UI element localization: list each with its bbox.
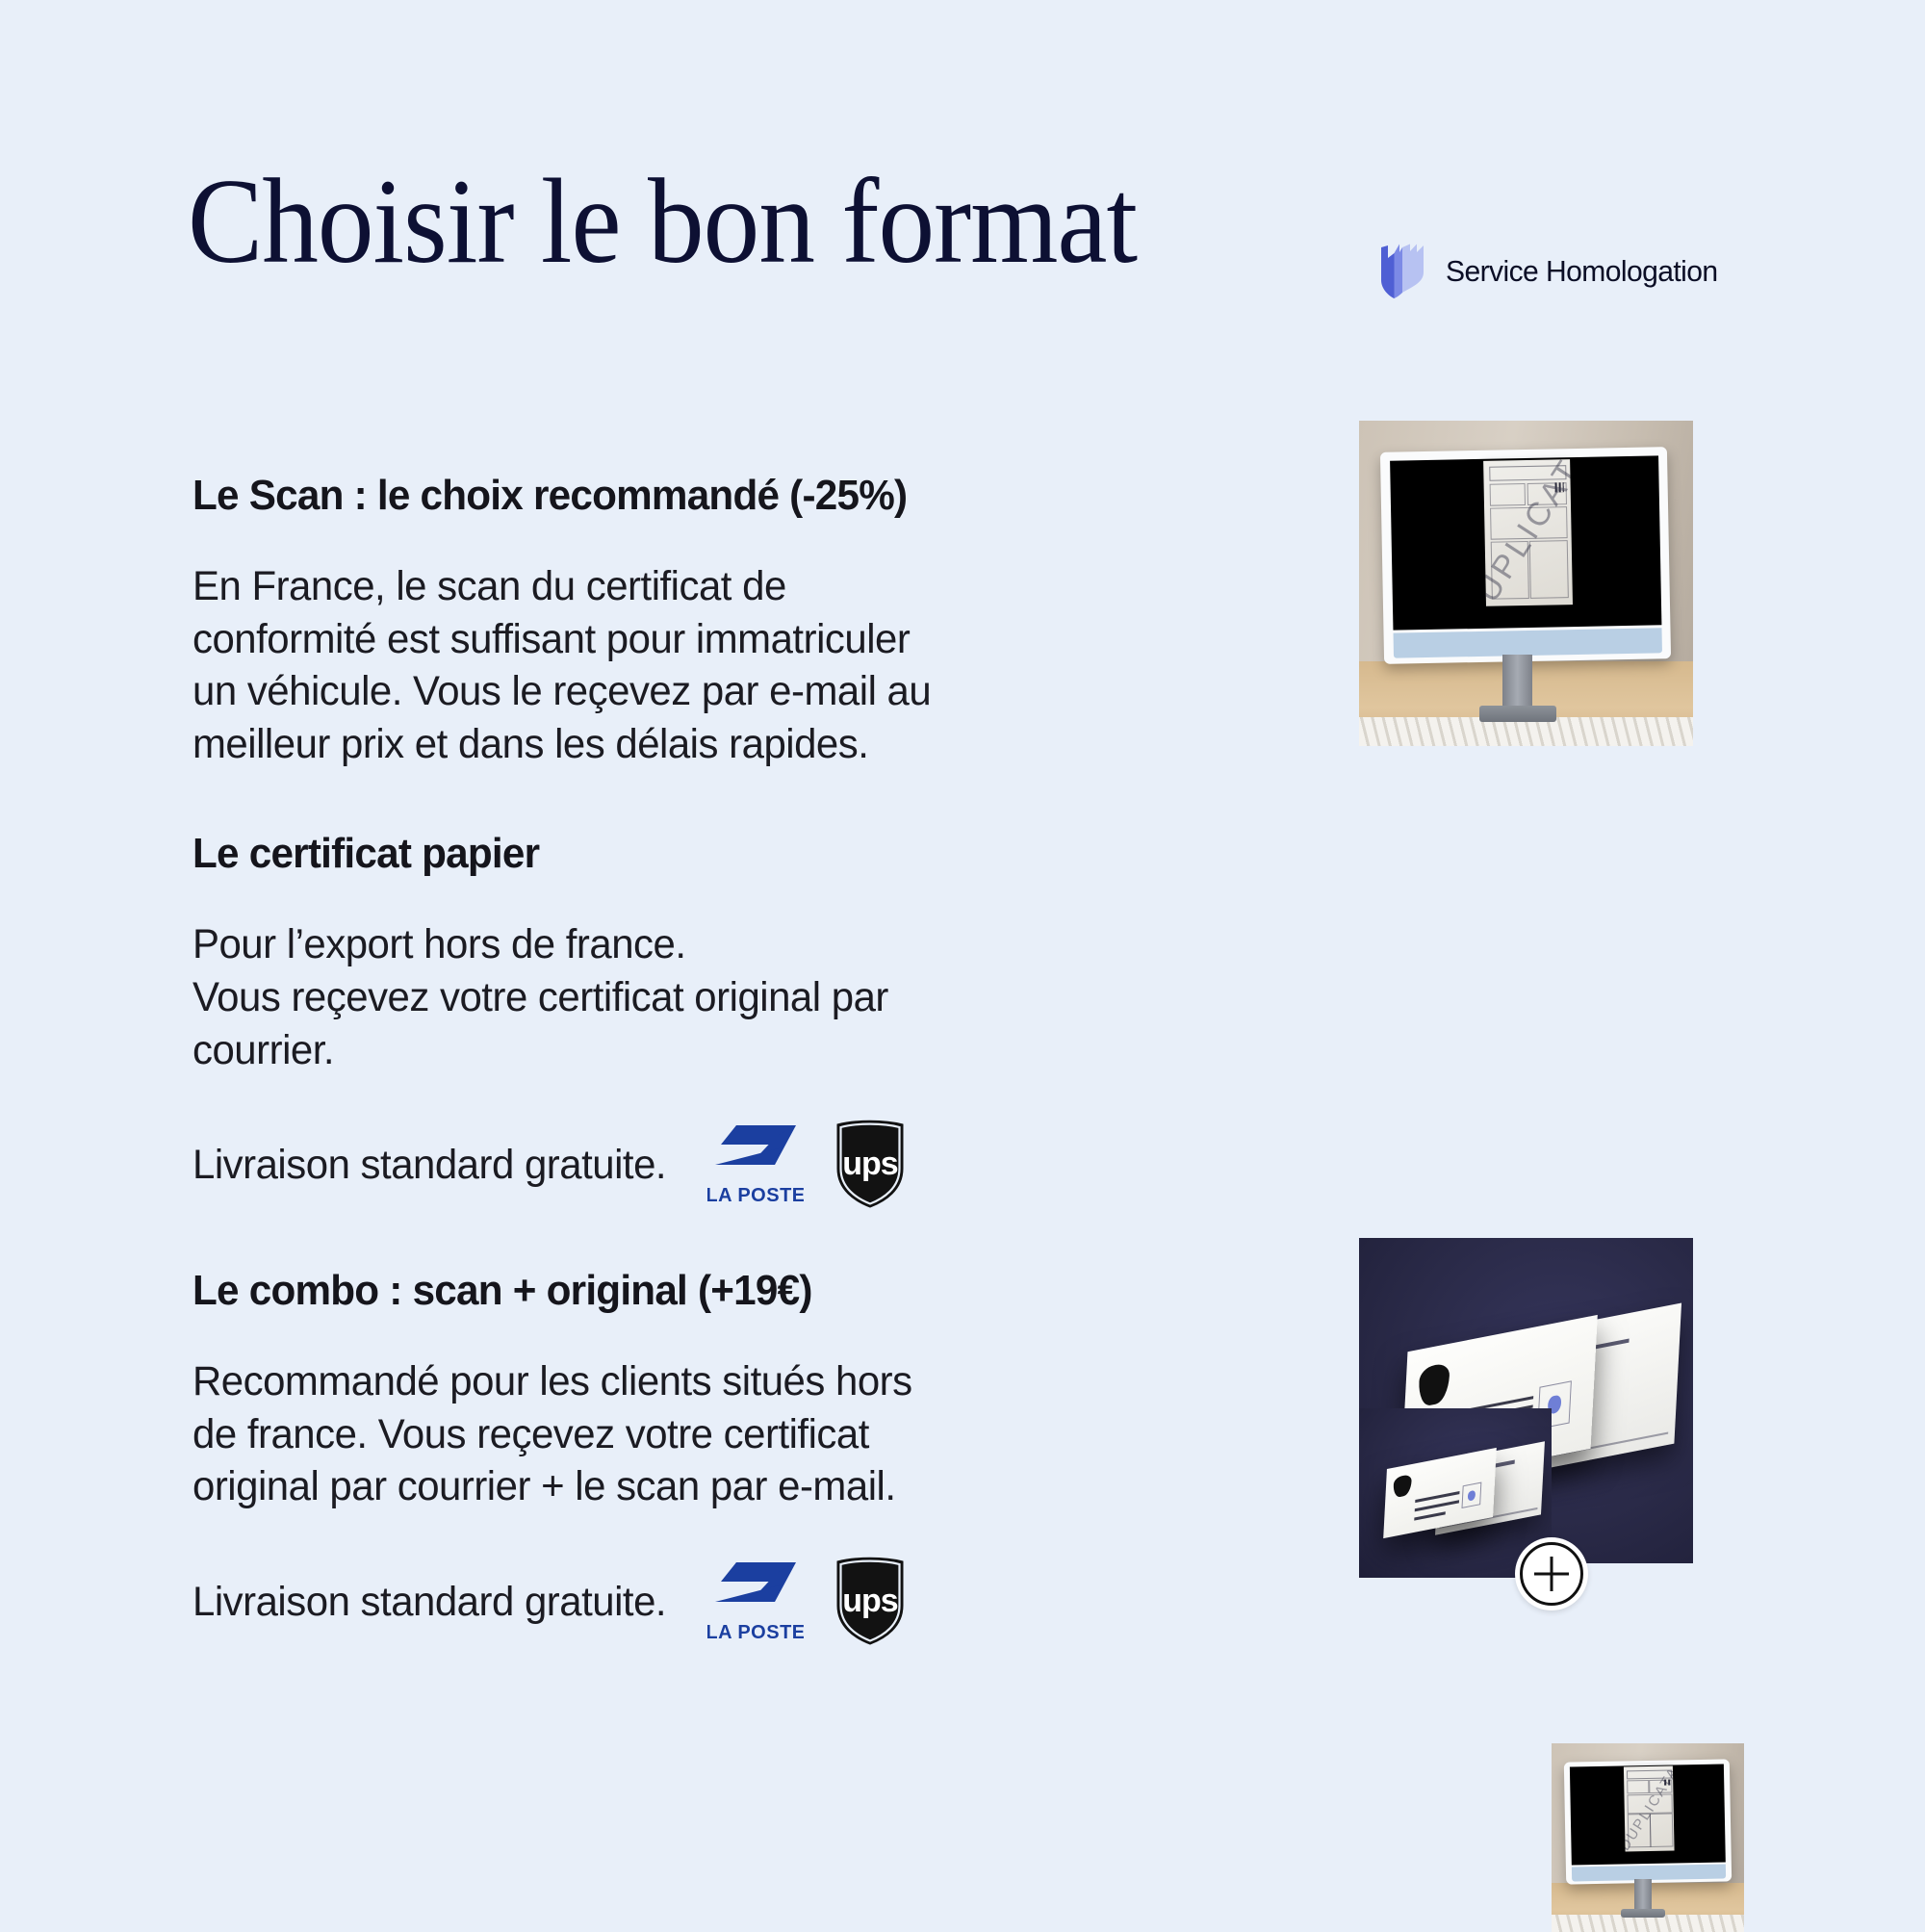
body-line: conformité est suffisant pour immatricul… bbox=[192, 613, 1188, 666]
svg-text:ups: ups bbox=[842, 1146, 898, 1182]
delivery-text: Livraison standard gratuite. bbox=[192, 1142, 666, 1189]
certificate-document: DUPLICATA bbox=[1484, 459, 1573, 606]
monitor-screen: DUPLICATA bbox=[1569, 1764, 1726, 1865]
ups-stamp-icon bbox=[1418, 1362, 1450, 1408]
body-line: de france. Vous reçevez votre certificat bbox=[192, 1408, 1188, 1461]
section-papier-body: Pour l’export hors de france. Vous reçev… bbox=[192, 918, 1188, 1076]
body-line: original par courrier + le scan par e-ma… bbox=[192, 1460, 1188, 1513]
la-poste-icon: LA POSTE bbox=[707, 1558, 804, 1646]
section-combo-heading: Le combo : scan + original (+19€) bbox=[192, 1267, 1172, 1315]
envelope-address bbox=[1415, 1490, 1460, 1518]
section-papier: Le certificat papier Pour l’export hors … bbox=[192, 830, 1213, 1211]
monitor-body: DUPLICATA bbox=[1564, 1759, 1732, 1885]
ups-shield-icon: ups bbox=[833, 1119, 908, 1211]
section-scan-heading: Le Scan : le choix recommandé (-25%) bbox=[192, 472, 1172, 520]
section-scan: Le Scan : le choix recommandé (-25%) En … bbox=[192, 472, 1213, 770]
photo-combo: DUPLICATA bbox=[1359, 1408, 1744, 1784]
la-poste-icon: LA POSTE bbox=[707, 1121, 804, 1209]
section-combo: Le combo : scan + original (+19€) Recomm… bbox=[192, 1267, 1213, 1648]
body-line: Recommandé pour les clients situés hors bbox=[192, 1355, 1188, 1408]
monitor-foot bbox=[1621, 1909, 1665, 1919]
monitor-body: DUPLICATA bbox=[1380, 448, 1672, 664]
page-title: Choisir le bon format bbox=[188, 162, 1137, 283]
svg-text:LA POSTE: LA POSTE bbox=[707, 1185, 804, 1206]
monitor-screen: DUPLICATA bbox=[1390, 456, 1662, 631]
section-scan-body: En France, le scan du certificat de conf… bbox=[192, 560, 1188, 770]
plus-badge bbox=[1515, 1537, 1588, 1610]
monitor-foot bbox=[1479, 706, 1556, 722]
body-line: meilleur prix et dans les délais rapides… bbox=[192, 718, 1188, 771]
body-line: Vous reçevez votre certificat original p… bbox=[192, 971, 1188, 1024]
brand-name: Service Homologation bbox=[1446, 254, 1718, 289]
content-column: Le Scan : le choix recommandé (-25%) En … bbox=[192, 472, 1213, 1648]
delivery-row-papier: Livraison standard gratuite. LA POSTE up… bbox=[192, 1119, 1213, 1211]
delivery-row-combo: Livraison standard gratuite. LA POSTE up… bbox=[192, 1556, 1213, 1648]
monitor-stand bbox=[1502, 655, 1532, 709]
shield-book-icon bbox=[1380, 244, 1424, 299]
certificate-document: DUPLICATA bbox=[1624, 1765, 1675, 1851]
photo-combo-monitor: DUPLICATA bbox=[1552, 1743, 1744, 1932]
ups-stamp-icon bbox=[1393, 1474, 1411, 1498]
envelope-stamp bbox=[1461, 1482, 1481, 1509]
body-line: un véhicule. Vous le reçevez par e-mail … bbox=[192, 665, 1188, 718]
photo-keyboard bbox=[1552, 1915, 1744, 1932]
plus-icon bbox=[1520, 1542, 1583, 1606]
svg-text:ups: ups bbox=[842, 1583, 898, 1619]
photo-monitor: DUPLICATA bbox=[1359, 421, 1693, 746]
section-combo-body: Recommandé pour les clients situés hors … bbox=[192, 1355, 1188, 1513]
brand-logo: Service Homologation bbox=[1380, 244, 1726, 299]
body-line: courrier. bbox=[192, 1024, 1188, 1077]
section-papier-heading: Le certificat papier bbox=[192, 830, 1172, 878]
ups-shield-icon: ups bbox=[833, 1556, 908, 1648]
body-line: En France, le scan du certificat de bbox=[192, 560, 1188, 613]
body-line: Pour l’export hors de france. bbox=[192, 918, 1188, 971]
monitor-stand bbox=[1634, 1879, 1652, 1911]
svg-text:LA POSTE: LA POSTE bbox=[707, 1622, 804, 1643]
delivery-text: Livraison standard gratuite. bbox=[192, 1579, 666, 1626]
